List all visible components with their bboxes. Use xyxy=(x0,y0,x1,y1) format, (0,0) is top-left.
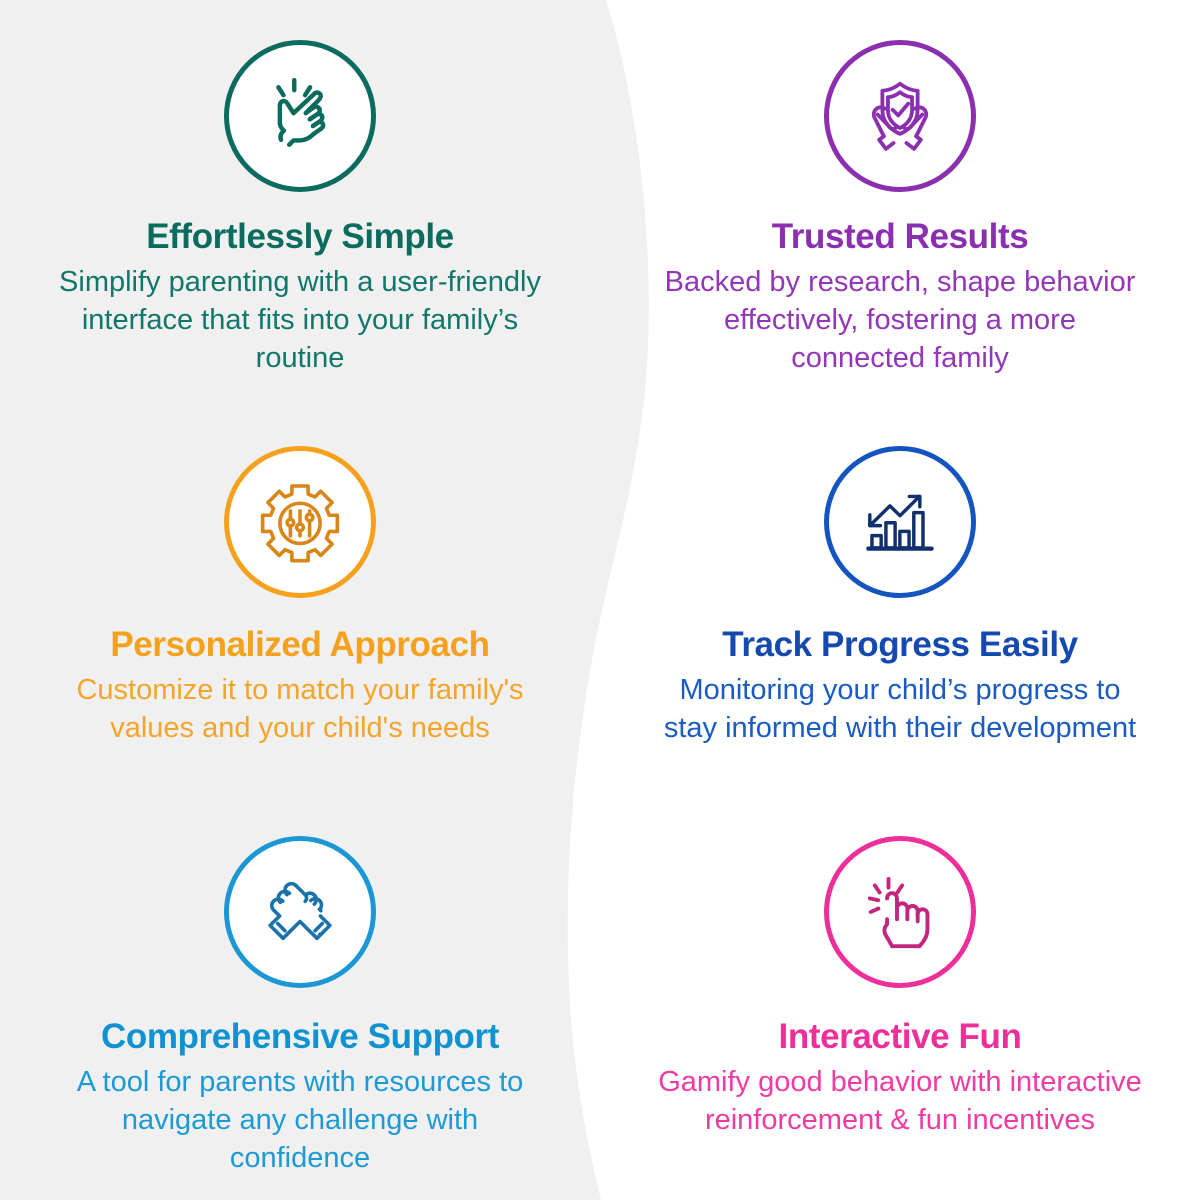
gear-sliders-icon xyxy=(252,474,348,570)
tap-hand-icon xyxy=(254,70,346,162)
handshake-icon xyxy=(254,866,346,958)
card-title: Personalized Approach xyxy=(110,626,489,665)
shield-in-hands-icon xyxy=(853,69,947,163)
feature-card-trusted-results: Trusted Results Backed by research, shap… xyxy=(600,0,1200,400)
icon-ring-personalized-approach xyxy=(224,446,376,598)
feature-grid-page: Effortlessly Simple Simplify parenting w… xyxy=(0,0,1200,1200)
feature-card-track-progress-easily: Track Progress Easily Monitoring your ch… xyxy=(600,400,1200,800)
card-description: Customize it to match your family's valu… xyxy=(30,671,570,747)
icon-ring-effortlessly-simple xyxy=(224,40,376,192)
icon-ring-comprehensive-support xyxy=(224,836,376,988)
card-description: Gamify good behavior with interactive re… xyxy=(630,1063,1170,1139)
feature-card-interactive-fun: Interactive Fun Gamify good behavior wit… xyxy=(600,800,1200,1200)
card-title: Track Progress Easily xyxy=(722,626,1077,665)
card-title: Trusted Results xyxy=(772,218,1029,257)
icon-ring-interactive-fun xyxy=(824,836,976,988)
card-title: Interactive Fun xyxy=(779,1018,1022,1057)
card-title: Effortlessly Simple xyxy=(146,218,454,257)
tap-finger-icon xyxy=(854,866,946,958)
card-description: A tool for parents with resources to nav… xyxy=(30,1063,570,1177)
feature-card-personalized-approach: Personalized Approach Customize it to ma… xyxy=(0,400,600,800)
growth-chart-icon xyxy=(854,476,946,568)
feature-card-effortlessly-simple: Effortlessly Simple Simplify parenting w… xyxy=(0,0,600,400)
card-description: Simplify parenting with a user-friendly … xyxy=(30,263,570,377)
feature-card-comprehensive-support: Comprehensive Support A tool for parents… xyxy=(0,800,600,1200)
card-title: Comprehensive Support xyxy=(101,1018,499,1057)
card-description: Backed by research, shape behavior effec… xyxy=(630,263,1170,377)
card-description: Monitoring your child’s progress to stay… xyxy=(630,671,1170,747)
icon-ring-trusted-results xyxy=(824,40,976,192)
icon-ring-track-progress-easily xyxy=(824,446,976,598)
